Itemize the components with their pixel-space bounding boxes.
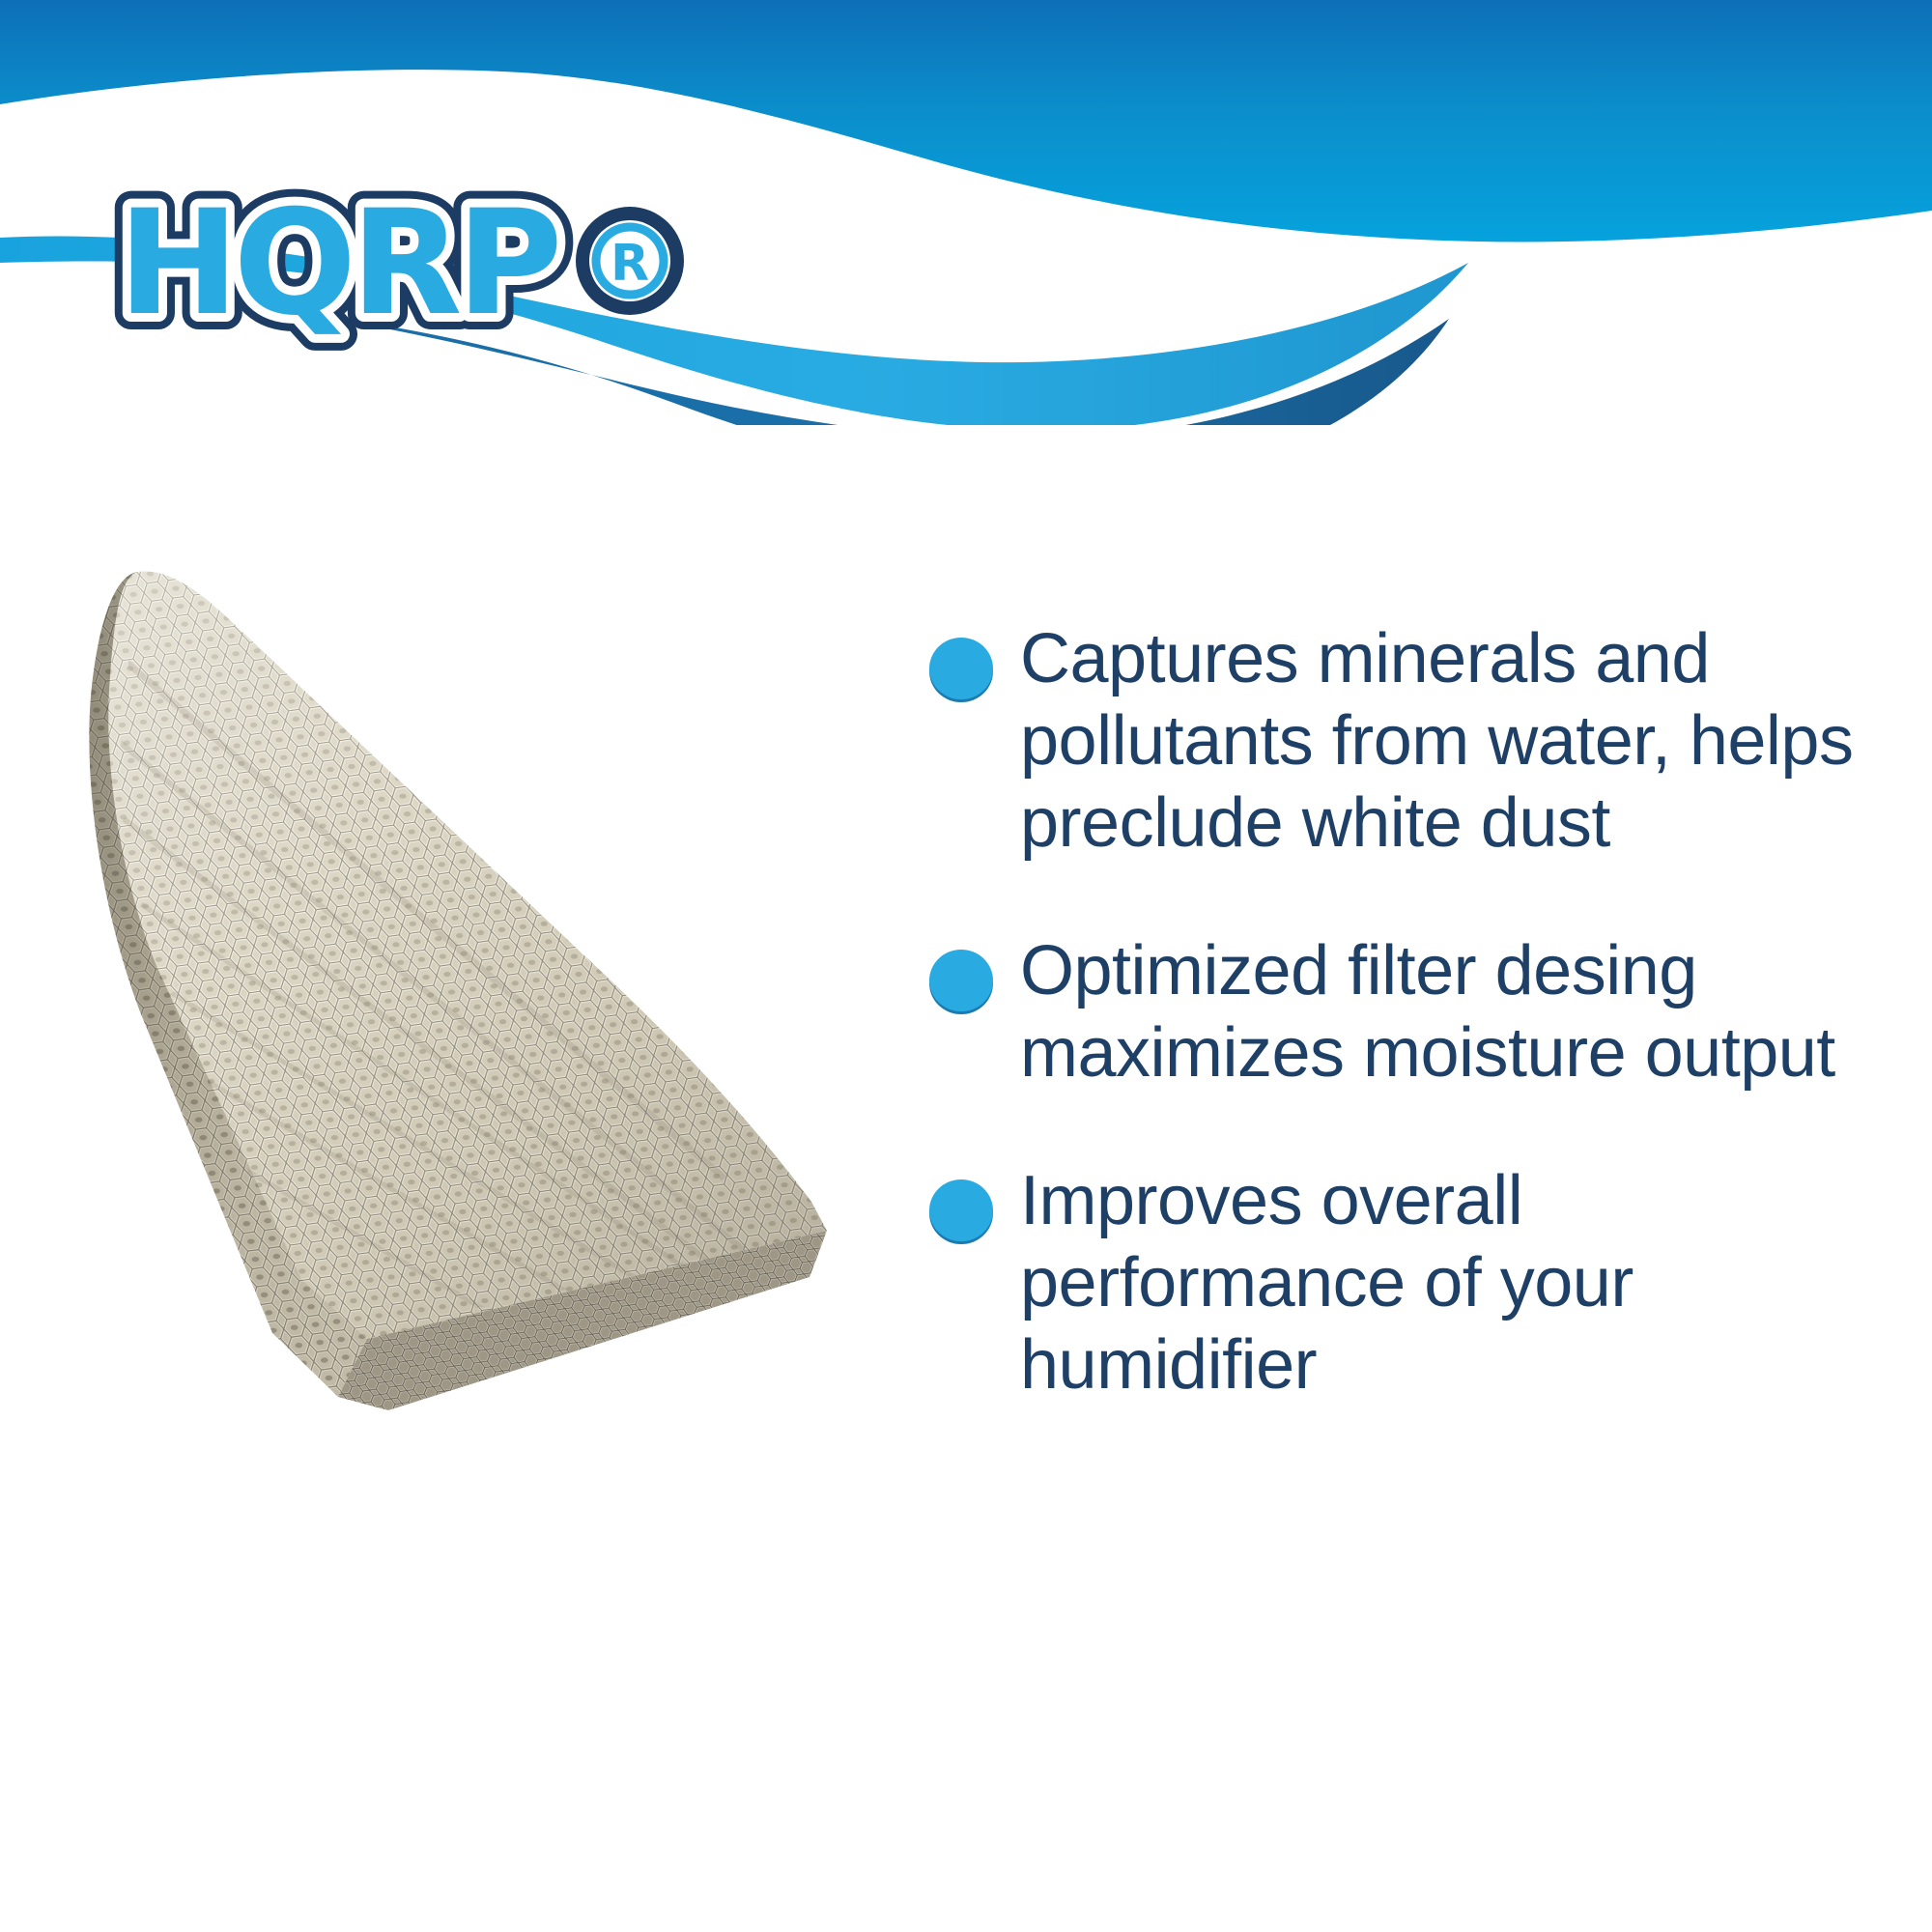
feature-item-1: Captures minerals and pollutants from wa… [929,618,1915,865]
feature-text-1: Captures minerals and pollutants from wa… [1020,618,1909,865]
bullet-dot-icon [929,638,993,699]
feature-text-2: Optimized filter desing maximizes moistu… [1020,930,1909,1094]
bullet-dot-icon [929,1179,993,1241]
product-image-humidifier-filter [48,560,947,1555]
feature-bullet-list: Captures minerals and pollutants from wa… [929,618,1915,1406]
hqrp-logo: HQRP HQRP HQRP R [108,176,726,359]
product-banner-page: HQRP HQRP HQRP R [0,0,1932,1932]
feature-item-3: Improves overall performance of your hum… [929,1160,1915,1406]
bullet-dot-icon [929,950,993,1011]
registered-trademark-icon: R [576,207,684,315]
feature-text-3: Improves overall performance of your hum… [1020,1160,1909,1406]
svg-text:R: R [611,235,649,293]
logo-wordmark-fill: HQRP [118,180,557,348]
feature-item-2: Optimized filter desing maximizes moistu… [929,930,1915,1094]
